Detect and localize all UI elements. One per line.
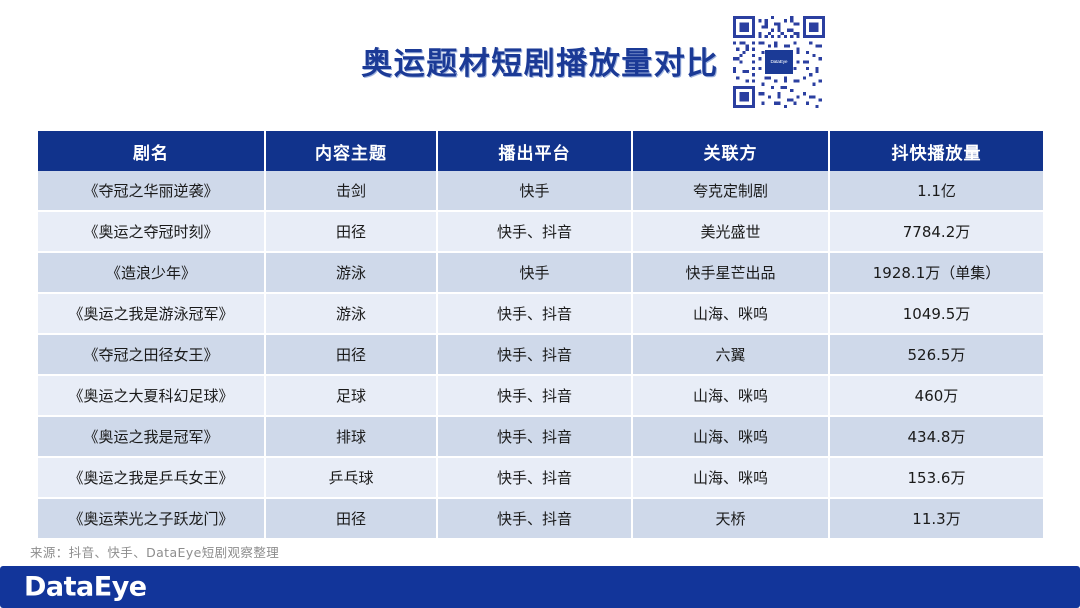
cell-name: 《奥运之我是乒乓女王》 <box>38 458 266 499</box>
cell-theme: 击剑 <box>266 171 438 212</box>
column-header-theme: 内容主题 <box>266 131 438 171</box>
page-title: 奥运题材短剧播放量对比 <box>0 38 1080 83</box>
table-row: 《奥运之大夏科幻足球》 足球 快手、抖音 山海、咪呜 460万 <box>38 376 1043 417</box>
cell-theme: 游泳 <box>266 294 438 335</box>
footer-bar: DataEye <box>0 566 1080 608</box>
cell-platform: 快手、抖音 <box>438 458 633 499</box>
cell-partner: 美光盛世 <box>633 212 830 253</box>
cell-views: 526.5万 <box>830 335 1043 376</box>
qr-center-logo: DataEye <box>765 50 793 74</box>
cell-views: 11.3万 <box>830 499 1043 540</box>
cell-partner: 天桥 <box>633 499 830 540</box>
table-header: 剧名 内容主题 播出平台 关联方 抖快播放量 <box>38 131 1043 171</box>
cell-theme: 田径 <box>266 499 438 540</box>
cell-partner: 夸克定制剧 <box>633 171 830 212</box>
cell-name: 《造浪少年》 <box>38 253 266 294</box>
cell-views: 434.8万 <box>830 417 1043 458</box>
column-header-platform: 播出平台 <box>438 131 633 171</box>
source-note: 来源：抖音、快手、DataEye短剧观察整理 <box>30 542 279 561</box>
cell-name: 《奥运之夺冠时刻》 <box>38 212 266 253</box>
table-row: 《奥运之我是乒乓女王》 乒乓球 快手、抖音 山海、咪呜 153.6万 <box>38 458 1043 499</box>
cell-name: 《奥运之我是游泳冠军》 <box>38 294 266 335</box>
table-row: 《奥运荣光之子跃龙门》 田径 快手、抖音 天桥 11.3万 <box>38 499 1043 540</box>
cell-views: 1049.5万 <box>830 294 1043 335</box>
cell-partner: 六翼 <box>633 335 830 376</box>
cell-platform: 快手、抖音 <box>438 294 633 335</box>
table-row: 《奥运之夺冠时刻》 田径 快手、抖音 美光盛世 7784.2万 <box>38 212 1043 253</box>
cell-platform: 快手、抖音 <box>438 212 633 253</box>
column-header-partner: 关联方 <box>633 131 830 171</box>
cell-theme: 田径 <box>266 335 438 376</box>
cell-views: 7784.2万 <box>830 212 1043 253</box>
qr-code[interactable]: DataEye <box>733 16 825 108</box>
cell-views: 460万 <box>830 376 1043 417</box>
table-row: 《夺冠之田径女王》 田径 快手、抖音 六翼 526.5万 <box>38 335 1043 376</box>
cell-partner: 山海、咪呜 <box>633 417 830 458</box>
cell-name: 《夺冠之华丽逆袭》 <box>38 171 266 212</box>
cell-platform: 快手 <box>438 171 633 212</box>
table-row: 《奥运之我是冠军》 排球 快手、抖音 山海、咪呜 434.8万 <box>38 417 1043 458</box>
cell-platform: 快手、抖音 <box>438 376 633 417</box>
cell-name: 《奥运荣光之子跃龙门》 <box>38 499 266 540</box>
cell-theme: 乒乓球 <box>266 458 438 499</box>
cell-views: 153.6万 <box>830 458 1043 499</box>
column-header-name: 剧名 <box>38 131 266 171</box>
table-container: 剧名 内容主题 播出平台 关联方 抖快播放量 《夺冠之华丽逆袭》 击剑 快手 夸… <box>38 131 1043 540</box>
cell-platform: 快手 <box>438 253 633 294</box>
table-row: 《奥运之我是游泳冠军》 游泳 快手、抖音 山海、咪呜 1049.5万 <box>38 294 1043 335</box>
cell-platform: 快手、抖音 <box>438 335 633 376</box>
cell-name: 《夺冠之田径女王》 <box>38 335 266 376</box>
column-header-views: 抖快播放量 <box>830 131 1043 171</box>
table-header-row: 剧名 内容主题 播出平台 关联方 抖快播放量 <box>38 131 1043 171</box>
cell-platform: 快手、抖音 <box>438 499 633 540</box>
playback-comparison-table: 剧名 内容主题 播出平台 关联方 抖快播放量 《夺冠之华丽逆袭》 击剑 快手 夸… <box>38 131 1043 540</box>
cell-theme: 田径 <box>266 212 438 253</box>
cell-platform: 快手、抖音 <box>438 417 633 458</box>
cell-theme: 游泳 <box>266 253 438 294</box>
page-header: 奥运题材短剧播放量对比 <box>0 0 1080 122</box>
dataeye-logo: DataEye <box>24 572 147 603</box>
qr-center-logo-label: DataEye <box>771 59 788 65</box>
cell-name: 《奥运之我是冠军》 <box>38 417 266 458</box>
table-row: 《造浪少年》 游泳 快手 快手星芒出品 1928.1万（单集） <box>38 253 1043 294</box>
cell-views: 1928.1万（单集） <box>830 253 1043 294</box>
cell-partner: 山海、咪呜 <box>633 458 830 499</box>
cell-partner: 快手星芒出品 <box>633 253 830 294</box>
table-row: 《夺冠之华丽逆袭》 击剑 快手 夸克定制剧 1.1亿 <box>38 171 1043 212</box>
cell-views: 1.1亿 <box>830 171 1043 212</box>
table-body: 《夺冠之华丽逆袭》 击剑 快手 夸克定制剧 1.1亿 《奥运之夺冠时刻》 田径 … <box>38 171 1043 540</box>
cell-partner: 山海、咪呜 <box>633 376 830 417</box>
cell-name: 《奥运之大夏科幻足球》 <box>38 376 266 417</box>
cell-theme: 足球 <box>266 376 438 417</box>
cell-partner: 山海、咪呜 <box>633 294 830 335</box>
cell-theme: 排球 <box>266 417 438 458</box>
